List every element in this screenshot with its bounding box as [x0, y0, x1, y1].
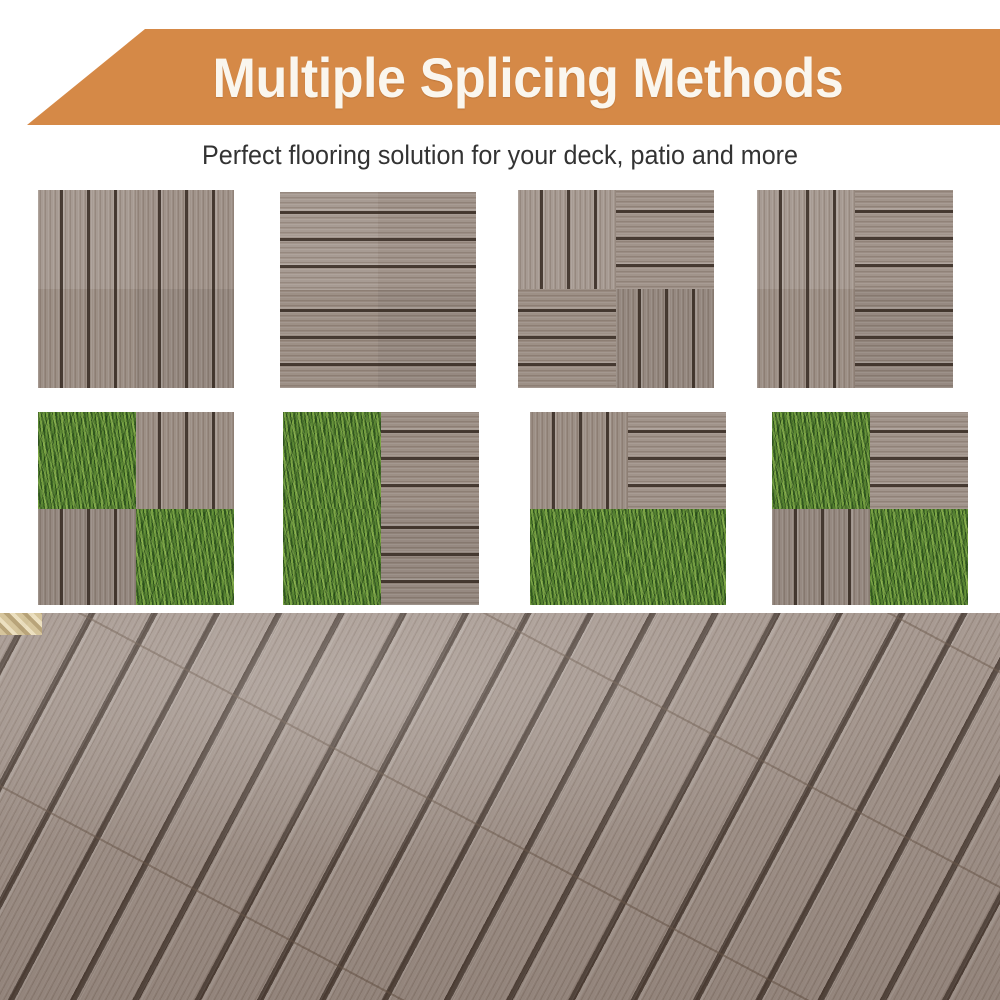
tile-quadrant-top-right — [616, 190, 714, 289]
pattern-diagram-6 — [283, 412, 479, 605]
pattern-diagram-5 — [38, 412, 234, 605]
header-banner: Multiple Splicing Methods — [0, 29, 1000, 125]
tile-quadrant-top-right — [381, 412, 479, 509]
tile-quadrant-top-right — [855, 190, 953, 289]
corner-decor-object — [0, 613, 42, 635]
pattern-diagram-8 — [772, 412, 968, 605]
tile-quadrant-bottom-right — [381, 509, 479, 606]
tile-quadrant-bottom-right — [136, 509, 234, 606]
tile-quadrant-top-left — [757, 190, 855, 289]
pattern-diagram-1 — [38, 190, 234, 388]
tile-quadrant-top-left — [38, 190, 136, 289]
tile-quadrant-top-left — [38, 412, 136, 509]
tile-quadrant-top-left — [280, 192, 378, 290]
pattern-diagram-3 — [518, 190, 714, 388]
tile-quadrant-bottom-right — [628, 509, 726, 606]
tile-quadrant-bottom-left — [518, 289, 616, 388]
page-title: Multiple Splicing Methods — [35, 29, 965, 125]
tile-quadrant-bottom-right — [855, 289, 953, 388]
tile-quadrant-bottom-right — [136, 289, 234, 388]
tile-quadrant-bottom-left — [280, 290, 378, 388]
tile-quadrant-bottom-left — [283, 509, 381, 606]
tile-quadrant-top-left — [530, 412, 628, 509]
deck-installation-photo — [0, 613, 1000, 1000]
tile-quadrant-top-right — [870, 412, 968, 509]
tile-quadrant-bottom-left — [38, 289, 136, 388]
tile-quadrant-bottom-right — [870, 509, 968, 606]
pattern-diagram-4 — [757, 190, 953, 388]
tile-quadrant-bottom-left — [757, 289, 855, 388]
tile-quadrant-bottom-right — [616, 289, 714, 388]
pattern-diagram-2 — [280, 192, 476, 388]
tile-quadrant-bottom-left — [530, 509, 628, 606]
tile-quadrant-top-left — [518, 190, 616, 289]
tile-quadrant-top-right — [136, 190, 234, 289]
pattern-diagram-7 — [530, 412, 726, 605]
tile-quadrant-top-left — [283, 412, 381, 509]
tile-quadrant-bottom-left — [772, 509, 870, 606]
tile-quadrant-top-right — [136, 412, 234, 509]
tile-quadrant-bottom-right — [378, 290, 476, 388]
tile-quadrant-top-right — [378, 192, 476, 290]
page-subtitle: Perfect flooring solution for your deck,… — [35, 140, 965, 171]
tile-quadrant-top-left — [772, 412, 870, 509]
tile-quadrant-bottom-left — [38, 509, 136, 606]
tile-quadrant-top-right — [628, 412, 726, 509]
deck-lighting-overlay — [0, 613, 1000, 1000]
